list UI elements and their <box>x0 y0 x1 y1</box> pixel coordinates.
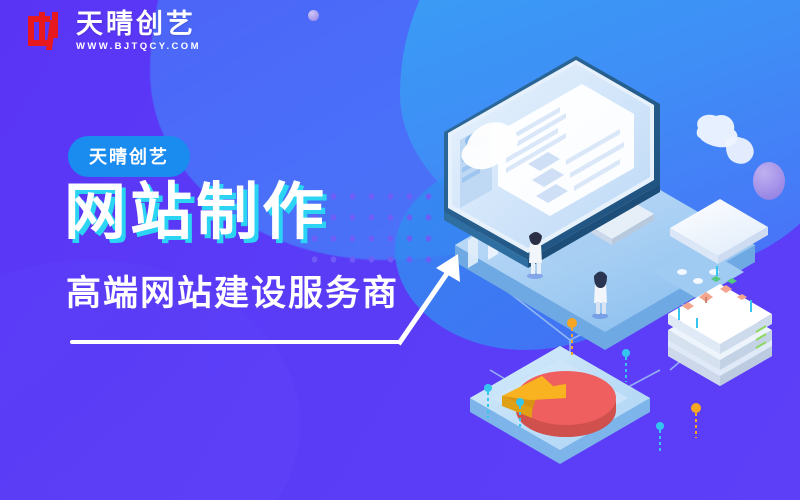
brand-logo[interactable]: 天晴创艺 WWW.BJTQCY.COM <box>26 10 201 52</box>
page-title: 网站制作 <box>64 182 328 244</box>
cloud-left-icon <box>455 115 525 171</box>
page-subtitle: 高端网站建设服务商 <box>66 276 399 311</box>
banner-canvas: 天晴创艺 WWW.BJTQCY.COM <box>0 0 800 500</box>
illustration-group <box>420 40 800 480</box>
hero-badge: 天晴创艺 <box>68 136 190 177</box>
pie-chart-platform <box>470 346 650 464</box>
brand-website-url: WWW.BJTQCY.COM <box>76 41 201 52</box>
white-rule-divider <box>70 340 400 344</box>
tqcy-logo-mark-icon <box>26 10 66 52</box>
purple-sphere-icon <box>753 162 785 200</box>
brand-logo-text: 天晴创艺 WWW.BJTQCY.COM <box>76 10 201 52</box>
illustration-svg <box>420 40 800 480</box>
small-sphere-icon <box>308 10 319 21</box>
up-right-arrow-icon <box>398 238 468 346</box>
brand-name-cn: 天晴创艺 <box>76 10 201 38</box>
